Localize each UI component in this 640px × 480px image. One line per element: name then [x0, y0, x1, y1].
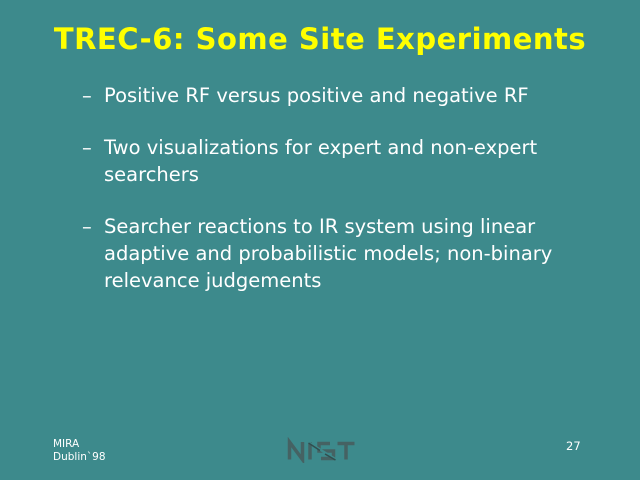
bullet-dash-icon: –	[82, 213, 104, 240]
page-number: 27	[566, 439, 581, 453]
bullet-list: – Positive RF versus positive and negati…	[82, 82, 582, 294]
nist-logo	[286, 437, 358, 463]
bullet-dash-icon: –	[82, 82, 104, 109]
presentation-slide: TREC-6: Some Site Experiments – Positive…	[0, 0, 640, 480]
bullet-dash-icon: –	[82, 134, 104, 161]
list-item: – Positive RF versus positive and negati…	[82, 82, 582, 109]
list-item-text: Searcher reactions to IR system using li…	[104, 213, 582, 294]
list-item: – Searcher reactions to IR system using …	[82, 213, 582, 294]
footer-organization: MIRA	[53, 438, 106, 451]
list-item-text: Two visualizations for expert and non-ex…	[104, 134, 582, 188]
footer-event: Dublin`98	[53, 451, 106, 464]
page-title: TREC-6: Some Site Experiments	[0, 22, 640, 56]
list-item: – Two visualizations for expert and non-…	[82, 134, 582, 188]
footer-credit: MIRA Dublin`98	[53, 438, 106, 464]
list-item-text: Positive RF versus positive and negative…	[104, 82, 582, 109]
